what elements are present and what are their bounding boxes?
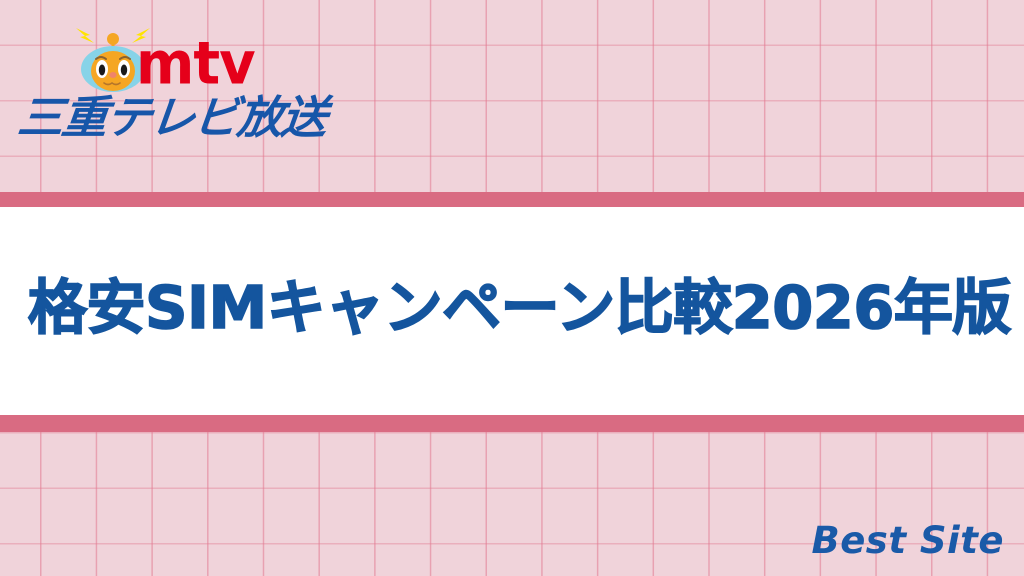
- bottom-rose-divider: [0, 415, 1024, 432]
- station-name-text: 三重テレビ放送: [15, 94, 327, 142]
- best-site-badge: Best Site: [812, 521, 1005, 561]
- top-rose-divider: [0, 192, 1024, 207]
- page-title: 格安SIMキャンペーン比較2026年版: [28, 272, 1008, 344]
- station-logo[interactable]: mtv 三重テレビ放送: [18, 22, 368, 147]
- mtv-wordmark: mtv: [136, 35, 255, 94]
- banner-canvas: mtv 三重テレビ放送 格安SIMキャンペーン比較2026年版 Best Sit…: [0, 0, 1024, 576]
